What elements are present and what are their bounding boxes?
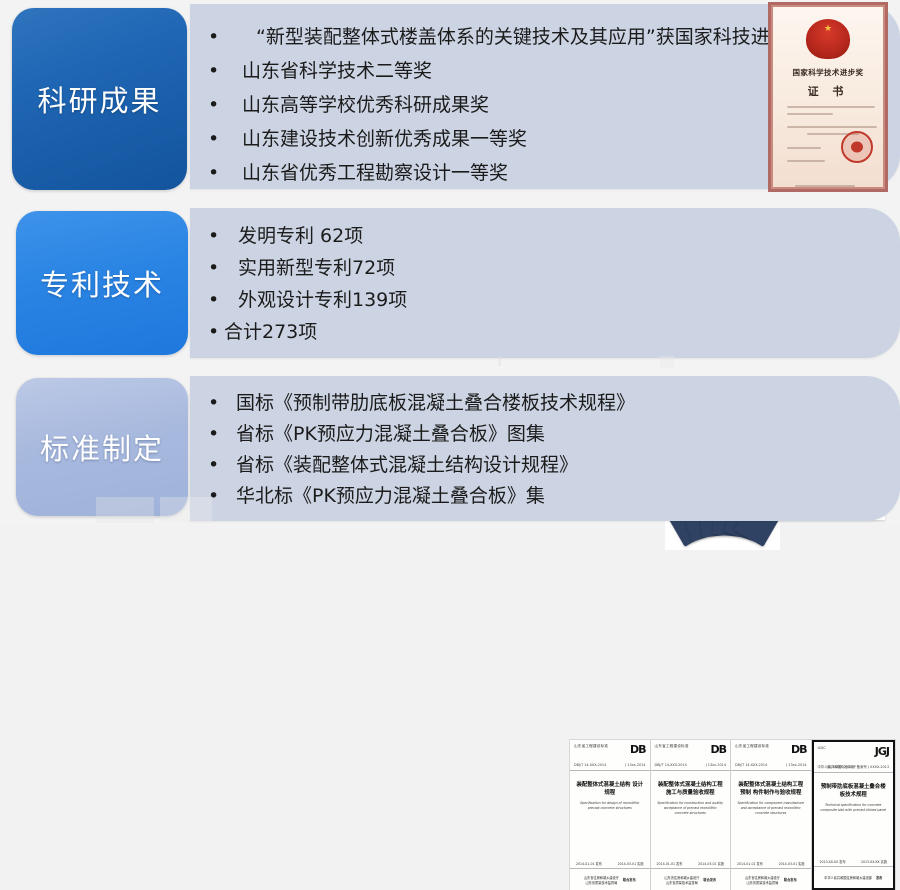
bullet-list-research-achievements: • “新型装配整体式楼盖体系的关键技术及其应用”获国家科技进步二等奖 • 山东省… xyxy=(208,22,846,192)
list-item-label: 山东建设技术创新优秀成果一等奖 xyxy=(242,124,527,154)
standard-date-effective: 2013-XX-XX 实施 xyxy=(861,859,887,864)
bullet-marker-icon: • xyxy=(208,22,219,52)
list-item: • 省标《装配整体式混凝土结构设计规程》 xyxy=(208,450,635,480)
content-panel-standard-development: • 国标《预制带肋底板混凝土叠合楼板技术规程》 • 省标《PK预应力混凝土叠合板… xyxy=(190,376,900,521)
standard-dates: 2014-01-01 发布 2014-03-01 实施 xyxy=(651,861,731,866)
standard-publisher-line1: 山东省住房和城乡建设厅 xyxy=(584,876,619,880)
bullet-marker-icon: • xyxy=(208,286,219,314)
db-logo-icon: DB xyxy=(710,743,726,756)
bullet-marker-icon: • xyxy=(208,124,219,154)
list-item: • 山东省优秀工程勘察设计一等奖 xyxy=(208,158,846,188)
standard-title: 装配整体式混凝土结构工程 施工与质量验收规程 xyxy=(657,781,725,797)
section-research-achievements: 科研成果 • “新型装配整体式楼盖体系的关键技术及其应用”获国家科技进步二等奖 … xyxy=(0,0,900,196)
standard-date-issued: 2014-01-01 发布 xyxy=(657,861,683,866)
standard-header: 山东省工程建设标准 DB DBJ/T 14-XXX-2014 J 13xx-20… xyxy=(651,740,731,771)
standard-title: 装配整体式混凝土结构 设计规程 xyxy=(576,781,644,797)
standard-footer: 山东省住房和城乡建设厅 山东省质量技术监督局 联合发布 xyxy=(570,868,650,890)
standard-publisher: 联合发布 xyxy=(703,877,716,882)
jgj-logo-icon: JGJ xyxy=(875,745,889,758)
certificate-text-line xyxy=(787,160,825,162)
list-item: • 山东省科学技术二等奖 xyxy=(208,56,846,86)
standard-footer: 中华人民共和国住房和城乡建设部 发布 xyxy=(814,866,894,888)
list-item-label: “新型装配整体式楼盖体系的关键技术及其应用”获国家科技进步二等奖 xyxy=(256,22,846,52)
standard-publisher: 发布 xyxy=(876,875,882,880)
list-item: • 发明专利 62项 xyxy=(208,222,407,250)
standard-publisher-line2: 山东省质量技术监督局 xyxy=(746,881,778,885)
standard-publisher-line2: 山东省质量技术监督局 xyxy=(585,881,617,885)
national-emblem-icon: ★ xyxy=(806,19,850,59)
standard-footer: 山东省住房和城乡建设厅 山东省质量技术监督局 联合发布 xyxy=(651,868,731,890)
bullet-marker-icon: • xyxy=(208,90,219,120)
section-badge-research-achievements[interactable]: 科研成果 xyxy=(12,8,187,190)
standard-header: UDC JGJ 中华人民共和国行业标准 JGJ X-XXX-2013 P 备案号… xyxy=(814,742,894,773)
standard-body: 装配整体式混凝土结构工程预制 构件制作与验收规程 Specification f… xyxy=(731,771,811,868)
list-item: • 实用新型专利72项 xyxy=(208,254,407,282)
certificate-serial-line xyxy=(795,185,855,187)
content-panel-patent-technology: • 发明专利 62项 • 实用新型专利72项 • 外观设计专利139项 • 合计… xyxy=(190,208,900,358)
bullet-marker-icon: • xyxy=(208,388,219,418)
star-icon: ★ xyxy=(824,25,832,34)
bullet-list-patent-technology: • 发明专利 62项 • 实用新型专利72项 • 外观设计专利139项 • 合计… xyxy=(208,222,407,350)
badge-label: 标准制定 xyxy=(40,426,164,468)
standard-publisher: 联合发布 xyxy=(784,877,797,882)
standard-code-alt: J 13xx-2014 xyxy=(706,763,726,767)
standard-body: 装配整体式混凝土结构工程 施工与质量验收规程 Specification for… xyxy=(651,771,731,868)
standard-cover: 山东省工程建设标准 DB DBJ/T 14-XXX-2014 J 13xx-20… xyxy=(651,740,732,890)
background-artifact xyxy=(498,356,501,366)
standard-cover: 山东省工程建设标准 DB DBJ/T 14-XXX-2014 J 13xx-20… xyxy=(570,740,651,890)
standard-code: DBJ/T 14-XXX-2014 xyxy=(655,763,687,767)
list-item: • 国标《预制带肋底板混凝土叠合楼板技术规程》 xyxy=(208,388,635,418)
standard-subtitle: Specification for design of monolithic p… xyxy=(576,801,644,811)
standard-publisher-lines: 山东省住房和城乡建设厅 山东省质量技术监督局 xyxy=(745,875,780,885)
list-item: • 省标《PK预应力混凝土叠合板》图集 xyxy=(208,419,635,449)
list-item-label: 华北标《PK预应力混凝土叠合板》集 xyxy=(236,481,545,511)
standard-footer: 山东省住房和城乡建设厅 山东省质量技术监督局 联合发布 xyxy=(731,868,811,890)
bullet-marker-icon: • xyxy=(208,254,219,282)
list-item-label: 省标《装配整体式混凝土结构设计规程》 xyxy=(236,450,578,480)
list-item: • “新型装配整体式楼盖体系的关键技术及其应用”获国家科技进步二等奖 xyxy=(208,22,846,52)
certificate-subtitle: 证 书 xyxy=(773,83,883,99)
standard-date-issued: 2014-01-01 发布 xyxy=(576,861,602,866)
standard-subtitle: Specification for component manufacture … xyxy=(737,801,805,816)
db-logo-icon: DB xyxy=(630,743,646,756)
standard-code-alt: J 13xx-2014 xyxy=(786,763,806,767)
standard-code-alt: J 13xx-2014 xyxy=(625,763,645,767)
certificate-image: ★ 国家科学技术进步奖 证 书 xyxy=(768,2,888,192)
standard-body: 预制带肋底板混凝土叠合楼板技术规程 Technical specificatio… xyxy=(814,773,894,866)
section-badge-standard-development[interactable]: 标准制定 xyxy=(16,378,188,516)
standard-date-effective: 2014-03-01 实施 xyxy=(698,861,724,866)
bullet-list-standard-development: • 国标《预制带肋底板混凝土叠合楼板技术规程》 • 省标《PK预应力混凝土叠合板… xyxy=(208,388,635,512)
list-item-label: 山东省优秀工程勘察设计一等奖 xyxy=(242,158,508,188)
standard-date-issued: 2013-XX-XX 发布 xyxy=(820,859,846,864)
standards-covers-image: 山东省工程建设标准 DB DBJ/T 14-XXX-2014 J 13xx-20… xyxy=(570,740,895,890)
list-item-label: 山东高等学校优秀科研成果奖 xyxy=(242,90,489,120)
standard-publisher-lines: 山东省住房和城乡建设厅 山东省质量技术监督局 xyxy=(584,875,619,885)
standard-dates: 2013-XX-XX 发布 2013-XX-XX 实施 xyxy=(814,859,894,864)
db-logo-icon: DB xyxy=(791,743,807,756)
list-item-label: 山东省科学技术二等奖 xyxy=(242,56,432,86)
standard-body: 装配整体式混凝土结构 设计规程 Specification for design… xyxy=(570,771,650,868)
bullet-marker-icon: • xyxy=(208,158,219,188)
list-item: • 华北标《PK预应力混凝土叠合板》集 xyxy=(208,481,635,511)
standard-title: 预制带肋底板混凝土叠合楼板技术规程 xyxy=(820,783,888,799)
list-item-label: 国标《预制带肋底板混凝土叠合楼板技术规程》 xyxy=(236,388,635,418)
certificate-text-line xyxy=(787,126,877,128)
section-badge-patent-technology[interactable]: 专利技术 xyxy=(16,211,188,355)
badge-label: 科研成果 xyxy=(37,78,161,120)
background-artifact xyxy=(96,497,154,523)
bullet-marker-icon: • xyxy=(208,450,219,480)
list-item-label: 外观设计专利139项 xyxy=(238,286,407,314)
certificate-text-line xyxy=(787,147,821,149)
standard-dates: 2014-01-01 发布 2014-03-01 实施 xyxy=(731,861,811,866)
standard-publisher-lines: 山东省住房和城乡建设厅 山东省质量技术监督局 xyxy=(664,875,699,885)
standard-cover: 山东省工程建设标准 DB DBJ/T 14-XXX-2014 J 13xx-20… xyxy=(731,740,812,890)
list-item-label: 发明专利 62项 xyxy=(238,222,363,250)
list-item: • 山东建设技术创新优秀成果一等奖 xyxy=(208,124,846,154)
standard-code: DBJ/T 14-XXX-2014 xyxy=(735,763,767,767)
certificate-text-line xyxy=(787,113,833,115)
standard-title: 装配整体式混凝土结构工程预制 构件制作与验收规程 xyxy=(737,781,805,797)
slide-canvas: 科研成果 • “新型装配整体式楼盖体系的关键技术及其应用”获国家科技进步二等奖 … xyxy=(0,0,900,525)
standard-publisher: 联合发布 xyxy=(623,877,636,882)
standard-publisher-line2: 山东省质量技术监督局 xyxy=(666,881,698,885)
background-artifact xyxy=(660,356,674,368)
bullet-marker-icon: • xyxy=(208,56,219,86)
standard-cover: UDC JGJ 中华人民共和国行业标准 JGJ X-XXX-2013 P 备案号… xyxy=(812,740,896,890)
list-item-label: 合计273项 xyxy=(224,318,317,346)
list-item: • 外观设计专利139项 xyxy=(208,286,407,314)
section-patent-technology: 专利技术 • 发明专利 62项 • 实用新型专利72项 • 外观设计专利139项… xyxy=(0,202,900,362)
list-item: • 山东高等学校优秀科研成果奖 xyxy=(208,90,846,120)
standard-code: DBJ/T 14-XXX-2014 xyxy=(574,763,606,767)
standard-subtitle: Specification for construction and quali… xyxy=(657,801,725,816)
certificate-text-line xyxy=(787,106,875,108)
badge-label: 专利技术 xyxy=(40,262,164,304)
bullet-marker-icon: • xyxy=(208,318,219,346)
certificate-inner: ★ 国家科学技术进步奖 证 书 xyxy=(771,5,885,189)
standard-publisher-line1: 山东省住房和城乡建设厅 xyxy=(664,876,699,880)
list-item: • 合计273项 xyxy=(208,318,407,346)
standard-publisher-line1: 山东省住房和城乡建设厅 xyxy=(745,876,780,880)
bullet-marker-icon: • xyxy=(208,419,219,449)
bullet-marker-icon: • xyxy=(208,222,219,250)
standard-code-alt: JGJ X-XXX-2013 P 备案号 J XXXX-2013 xyxy=(827,764,889,769)
standard-date-issued: 2014-01-01 发布 xyxy=(737,861,763,866)
standard-date-effective: 2014-03-01 实施 xyxy=(618,861,644,866)
standard-header: 山东省工程建设标准 DB DBJ/T 14-XXX-2014 J 13xx-20… xyxy=(570,740,650,771)
red-seal-icon xyxy=(841,131,873,163)
standard-subtitle: Technical specification for concrete com… xyxy=(820,803,888,813)
list-item-label: 省标《PK预应力混凝土叠合板》图集 xyxy=(236,419,545,449)
standard-header: 山东省工程建设标准 DB DBJ/T 14-XXX-2014 J 13xx-20… xyxy=(731,740,811,771)
standard-date-effective: 2014-03-01 实施 xyxy=(779,861,805,866)
certificate-title: 国家科学技术进步奖 xyxy=(773,67,883,78)
standard-dates: 2014-01-01 发布 2014-03-01 实施 xyxy=(570,861,650,866)
standard-publisher-line1: 中华人民共和国住房和城乡建设部 xyxy=(824,875,872,880)
list-item-label: 实用新型专利72项 xyxy=(238,254,395,282)
background-artifact xyxy=(160,497,212,523)
